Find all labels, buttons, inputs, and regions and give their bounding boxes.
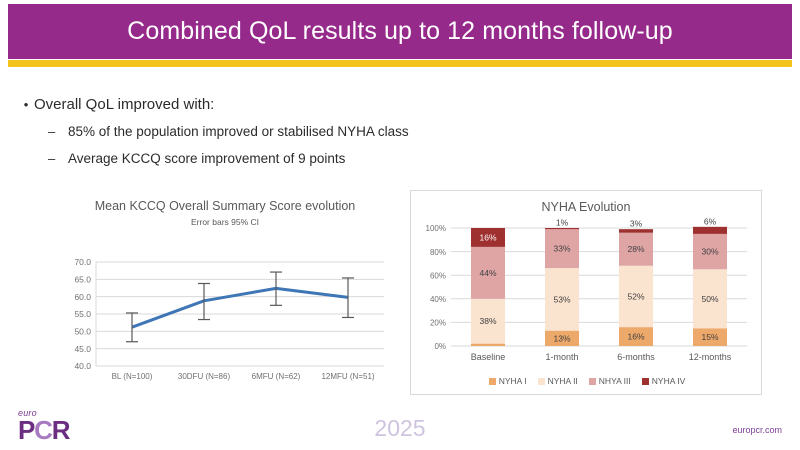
nyha-xtick-label: Baseline <box>471 352 506 362</box>
nyha-stacked-bar-chart: NYHA Evolution 100%80%60%40%20%0%2%38%44… <box>410 190 762 395</box>
bullet-marker-dot: • <box>18 96 34 114</box>
nyha-segment-label: 3% <box>630 219 643 229</box>
page-title: Combined QoL results up to 12 months fol… <box>127 17 673 46</box>
nyha-ytick-label: 0% <box>434 342 446 351</box>
bullet-item-level1: • Overall QoL improved with: <box>18 96 538 114</box>
kccq-xtick-label: 6MFU (N=62) <box>252 372 301 381</box>
nyha-segment-label: 13% <box>553 333 570 343</box>
nyha-svg: 100%80%60%40%20%0%2%38%44%16%Baseline13%… <box>411 216 761 368</box>
nyha-segment-label: 53% <box>553 294 570 304</box>
legend-swatch-icon <box>642 378 649 385</box>
bullet-text: Average KCCQ score improvement of 9 poin… <box>68 150 345 168</box>
website-label: europcr.com <box>732 425 782 435</box>
nyha-xtick-label: 1-month <box>545 352 578 362</box>
kccq-plot-area: 70.065.060.055.050.045.040.0BL (N=100)30… <box>60 256 390 388</box>
nyha-segment-label: 16% <box>479 232 496 242</box>
nyha-bar-segment <box>619 229 653 233</box>
kccq-xtick-label: 12MFU (N=51) <box>321 372 374 381</box>
nyha-segment-label: 6% <box>704 216 717 226</box>
nyha-segment-label: 33% <box>553 244 570 254</box>
nyha-ytick-label: 40% <box>430 295 446 304</box>
kccq-ytick-label: 70.0 <box>74 257 91 267</box>
kccq-ytick-label: 45.0 <box>74 344 91 354</box>
kccq-ytick-label: 65.0 <box>74 275 91 285</box>
kccq-chart-subtitle: Error bars 95% CI <box>60 217 390 227</box>
nyha-segment-label: 30% <box>701 247 718 257</box>
slide-header-bar: Combined QoL results up to 12 months fol… <box>8 4 792 59</box>
legend-swatch-icon <box>538 378 545 385</box>
bullet-text: Overall QoL improved with: <box>34 96 214 114</box>
legend-label: NHYA III <box>599 376 631 386</box>
kccq-ytick-label: 40.0 <box>74 361 91 371</box>
nyha-ytick-label: 20% <box>430 319 446 328</box>
kccq-ytick-label: 55.0 <box>74 309 91 319</box>
legend-entry[interactable]: NYHA II <box>538 376 578 386</box>
nyha-segment-label: 44% <box>479 268 496 278</box>
nyha-segment-label: 1% <box>556 218 569 228</box>
kccq-svg: 70.065.060.055.050.045.040.0BL (N=100)30… <box>60 256 390 388</box>
legend-label: NYHA II <box>548 376 578 386</box>
nyha-xtick-label: 12-months <box>689 352 732 362</box>
bullet-item-level2: – 85% of the population improved or stab… <box>18 123 538 141</box>
nyha-bar-segment <box>545 228 579 229</box>
nyha-segment-label: 52% <box>627 291 644 301</box>
nyha-chart-title: NYHA Evolution <box>411 191 761 214</box>
nyha-ytick-label: 80% <box>430 248 446 257</box>
bullet-marker-dash: – <box>48 123 68 141</box>
legend-entry[interactable]: NYHA IV <box>642 376 686 386</box>
header-accent-bar <box>8 60 792 67</box>
nyha-segment-label: 28% <box>627 244 644 254</box>
nyha-bar-segment <box>693 227 727 234</box>
bullet-list: • Overall QoL improved with: – 85% of th… <box>18 96 538 177</box>
nyha-legend: NYHA INYHA IINHYA IIINYHA IV <box>411 376 763 386</box>
nyha-ytick-label: 100% <box>426 224 446 233</box>
kccq-ytick-label: 60.0 <box>74 292 91 302</box>
kccq-xtick-label: 30DFU (N=86) <box>178 372 231 381</box>
nyha-segment-label: 50% <box>701 294 718 304</box>
legend-entry[interactable]: NHYA III <box>589 376 631 386</box>
legend-entry[interactable]: NYHA I <box>489 376 527 386</box>
bullet-text: 85% of the population improved or stabil… <box>68 123 409 141</box>
legend-swatch-icon <box>489 378 496 385</box>
legend-label: NYHA IV <box>652 376 686 386</box>
kccq-chart-title: Mean KCCQ Overall Summary Score evolutio… <box>60 196 390 214</box>
bullet-marker-dash: – <box>48 150 68 168</box>
nyha-ytick-label: 60% <box>430 271 446 280</box>
nyha-segment-label: 16% <box>627 332 644 342</box>
nyha-segment-label: 15% <box>701 332 718 342</box>
kccq-data-line <box>132 288 348 327</box>
nyha-segment-label: 38% <box>479 316 496 326</box>
kccq-line-chart: Mean KCCQ Overall Summary Score evolutio… <box>60 196 390 388</box>
nyha-bar-segment <box>471 344 505 346</box>
year-label: 2025 <box>0 415 800 442</box>
bullet-item-level2: – Average KCCQ score improvement of 9 po… <box>18 150 538 168</box>
kccq-xtick-label: BL (N=100) <box>112 372 153 381</box>
kccq-ytick-label: 50.0 <box>74 327 91 337</box>
nyha-xtick-label: 6-months <box>617 352 655 362</box>
legend-swatch-icon <box>589 378 596 385</box>
legend-label: NYHA I <box>499 376 527 386</box>
